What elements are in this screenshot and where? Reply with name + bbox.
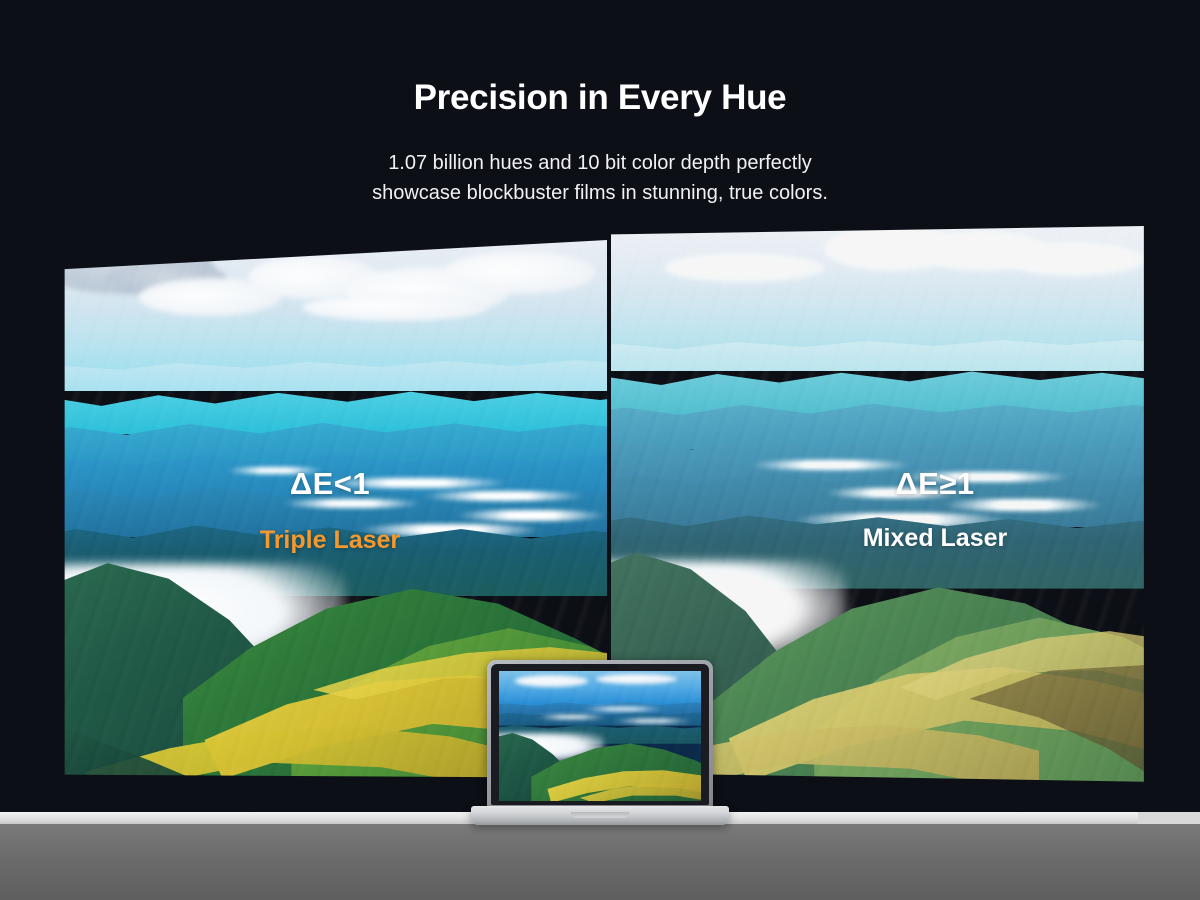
table-surface: [0, 824, 1200, 900]
laptop-device: [487, 660, 713, 820]
laptop-lid: [487, 660, 713, 808]
promo-hero: Precision in Every Hue 1.07 billion hues…: [0, 0, 1200, 900]
page-subtitle: 1.07 billion hues and 10 bit color depth…: [0, 148, 1200, 208]
laptop-display: [499, 671, 701, 801]
laptop-front-notch: [571, 812, 629, 818]
landscape-image-laptop: [499, 671, 701, 801]
webcam-notch: [583, 664, 617, 669]
texture-overlay: [499, 671, 701, 801]
table-front-edge-right: [1138, 812, 1200, 824]
laptop-bezel: [491, 664, 709, 805]
page-title: Precision in Every Hue: [0, 78, 1200, 118]
